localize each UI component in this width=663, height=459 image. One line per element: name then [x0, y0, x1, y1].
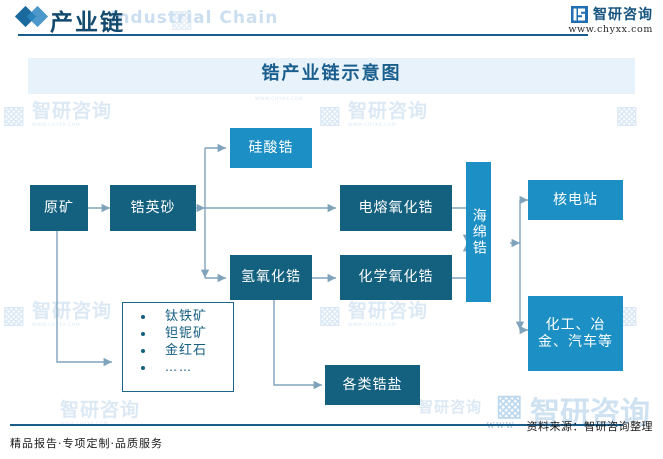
flow-diagram: 原矿 锆英砂 硅酸锆 氢氧化锆 电熔氧化锆 化学氧化锆 海绵锆 核电站 化工、冶… — [0, 100, 663, 410]
footer-source: 资料来源：智研咨询整理 — [527, 418, 654, 434]
node-zirconium-salts[interactable]: 各类锆盐 — [325, 365, 420, 405]
node-raw-ore[interactable]: 原矿 — [30, 185, 88, 231]
page-title: 产业链 — [50, 3, 125, 37]
brand-url: www.chyxx.com — [568, 24, 653, 35]
node-chemical-zirconia[interactable]: 化学氧化锆 — [340, 255, 452, 300]
page-header: Industrial Chain 产业链 智研咨询 www.chyxx.com — [0, 0, 663, 46]
list-item: 钛铁矿 — [137, 308, 227, 325]
header-divider — [18, 34, 588, 36]
page-root: ▩ 智研咨询WWW.CHYXX.COM ▩ 智研咨询WWW.CHYXX.COM … — [0, 0, 663, 459]
list-item: 钽铌矿 — [137, 325, 227, 342]
diamond-icon — [27, 6, 48, 27]
node-fused-zirconia[interactable]: 电熔氧化锆 — [340, 185, 452, 231]
brand-logo[interactable]: 智研咨询 — [571, 4, 653, 24]
list-item: 金红石 — [137, 342, 227, 359]
node-nuclear-plant[interactable]: 核电站 — [528, 180, 623, 220]
header-subtitle-en: Industrial Chain — [110, 8, 278, 28]
list-item: …… — [137, 359, 227, 376]
node-zircon-sand[interactable]: 锆英砂 — [110, 185, 196, 231]
chyxx-logo-icon — [571, 6, 588, 23]
chart-title: 锆产业链示意图 — [0, 59, 663, 85]
byproduct-items: 钛铁矿 钽铌矿 金红石 …… — [123, 303, 233, 381]
footer-tagline: 精品报告·专项定制·品质服务 — [10, 435, 163, 451]
node-zr-hydroxide[interactable]: 氢氧化锆 — [230, 255, 312, 300]
node-sponge-zirconium[interactable]: 海绵锆 — [466, 162, 491, 302]
node-industries[interactable]: 化工、冶金、汽车等 — [528, 296, 623, 371]
node-zr-silicate[interactable]: 硅酸锆 — [230, 128, 312, 168]
byproduct-list[interactable]: 钛铁矿 钽铌矿 金红石 …… — [122, 302, 234, 392]
brand-name: 智研咨询 — [593, 4, 653, 24]
